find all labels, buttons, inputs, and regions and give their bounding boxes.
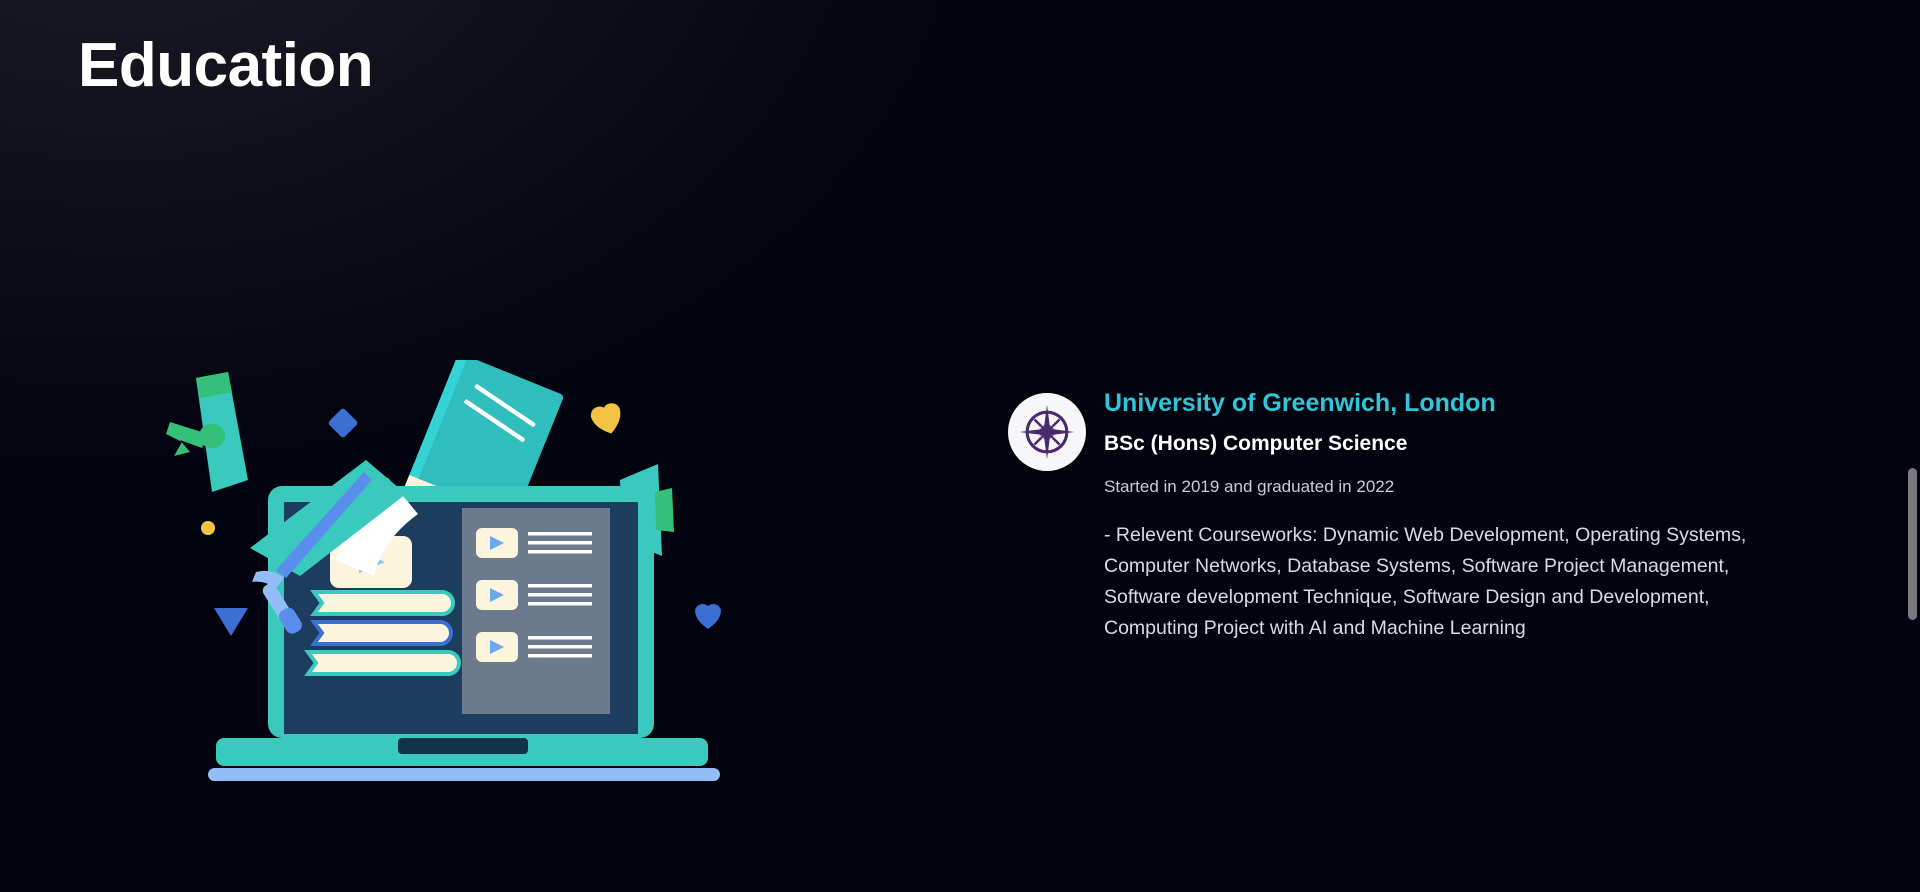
- yellow-heart-icon: [589, 401, 626, 438]
- education-entry-body: University of Greenwich, London BSc (Hon…: [1104, 388, 1768, 644]
- list-item: [476, 632, 592, 662]
- blue-triangle-icon: [214, 608, 248, 636]
- scrollbar-thumb[interactable]: [1908, 468, 1917, 620]
- blue-heart-icon: [695, 604, 721, 629]
- page-title: Education: [78, 30, 373, 101]
- book-stack-icon: [308, 592, 459, 674]
- vertical-scrollbar[interactable]: [1904, 0, 1920, 892]
- compass-rose-logo-icon: [1016, 401, 1078, 463]
- diploma-scroll-icon: [166, 372, 248, 492]
- blue-diamond-icon: [327, 407, 358, 438]
- degree-title: BSc (Hons) Computer Science: [1104, 430, 1768, 457]
- education-duration: Started in 2019 and graduated in 2022: [1104, 475, 1768, 499]
- education-entry: University of Greenwich, London BSc (Hon…: [1008, 388, 1768, 644]
- list-item: [476, 528, 592, 558]
- institution-name: University of Greenwich, London: [1104, 388, 1768, 419]
- list-item: [476, 580, 592, 610]
- online-education-illustration: [150, 360, 830, 830]
- university-logo: [1008, 393, 1086, 471]
- education-section: Education: [0, 0, 1920, 892]
- video-list-panel-icon: [462, 508, 610, 714]
- yellow-dot-icon: [201, 521, 215, 535]
- coursework-list: - Relevent Courseworks: Dynamic Web Deve…: [1104, 520, 1768, 643]
